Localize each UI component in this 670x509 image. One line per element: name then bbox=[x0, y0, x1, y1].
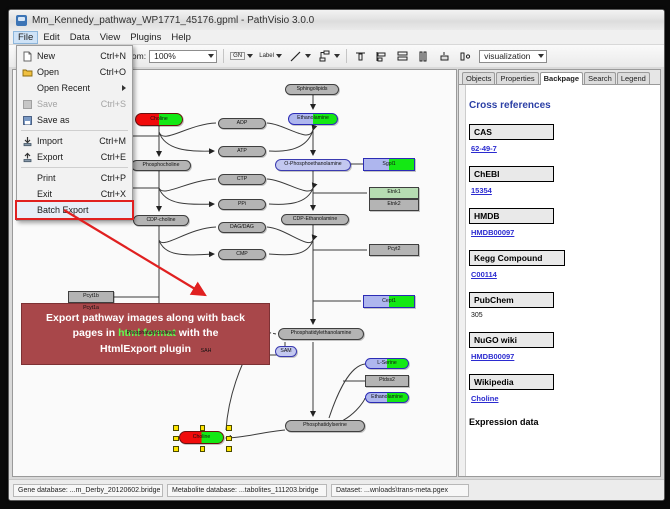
visualization-value: visualization bbox=[484, 51, 530, 61]
file-menu-popup[interactable]: New Ctrl+N Open Ctrl+O Open Recent Save … bbox=[16, 45, 133, 221]
file-menu-label-new: New bbox=[37, 51, 100, 61]
metabolite-node[interactable]: O-Phosphoethanolamine bbox=[275, 159, 351, 171]
selection-handle[interactable] bbox=[226, 446, 232, 452]
file-menu-accel-new: Ctrl+N bbox=[100, 51, 132, 61]
side-panel: Objects Properties Backpage Search Legen… bbox=[458, 69, 661, 477]
xref-header-hmdb: HMDB bbox=[469, 208, 554, 224]
line-dropdown-icon[interactable] bbox=[305, 54, 311, 58]
metabolite-label: Phosphatidylserine bbox=[302, 423, 348, 428]
xref-value-pubchem: 305 bbox=[469, 312, 656, 319]
xref-header-cas: CAS bbox=[469, 124, 554, 140]
metabolite-label: SAM bbox=[279, 349, 292, 354]
metabolite-node[interactable]: Phosphatidylethanolamine bbox=[278, 328, 364, 340]
selection-handle[interactable] bbox=[173, 446, 179, 452]
metabolite-node[interactable]: Choline bbox=[135, 113, 183, 126]
tab-properties[interactable]: Properties bbox=[496, 72, 538, 84]
metabolite-node[interactable]: Sphingolipids bbox=[285, 84, 339, 95]
metabolite-node[interactable]: Phosphocholine bbox=[131, 160, 191, 171]
datanode-icon: GN bbox=[230, 52, 245, 60]
interaction-dropdown-icon[interactable] bbox=[334, 54, 340, 58]
gene-label: Sgpl1 bbox=[381, 162, 396, 167]
file-menu-label-print: Print bbox=[37, 173, 101, 183]
status-bar: Gene database: ...m_Derby_20120602.bridg… bbox=[9, 479, 664, 500]
file-menu-accel-exit: Ctrl+X bbox=[101, 189, 132, 199]
gene-label: Pcyt2 bbox=[387, 247, 402, 252]
callout-line-3: HtmlExport plugin bbox=[46, 342, 245, 357]
menu-plugins[interactable]: Plugins bbox=[125, 31, 166, 44]
callout-line-1: Export pathway images along with back bbox=[46, 311, 245, 326]
label-tool-button[interactable]: Label bbox=[259, 49, 274, 64]
pathvisio-icon bbox=[16, 15, 27, 26]
callout-line-2-pre: pages in bbox=[73, 327, 119, 339]
file-menu-accel-save: Ctrl+S bbox=[101, 99, 132, 109]
menu-edit[interactable]: Edit bbox=[38, 31, 64, 44]
submenu-arrow-icon bbox=[122, 85, 126, 91]
file-menu-item-import[interactable]: Import Ctrl+M bbox=[17, 133, 132, 149]
metabolite-label: Sphingolipids bbox=[296, 87, 329, 92]
tab-objects[interactable]: Objects bbox=[462, 72, 495, 84]
align-left-button[interactable] bbox=[374, 49, 389, 64]
gene-node[interactable]: Cept1 bbox=[363, 295, 415, 308]
status-gene-database: Gene database: ...m_Derby_20120602.bridg… bbox=[13, 484, 163, 497]
metabolite-label: O-Phosphoethanolamine bbox=[283, 162, 342, 167]
file-menu-label-import: Import bbox=[37, 136, 99, 146]
xref-header-wikipedia: Wikipedia bbox=[469, 374, 554, 390]
metabolite-label: Phosphatidylcholines bbox=[126, 331, 177, 336]
toolbar-separator-2 bbox=[346, 49, 347, 63]
metabolite-label: ATP bbox=[236, 149, 248, 154]
line-tool-button[interactable] bbox=[288, 49, 303, 64]
gene-label: Pcyt1a bbox=[82, 306, 100, 311]
metabolite-label: Choline bbox=[149, 117, 169, 122]
menu-data[interactable]: Data bbox=[65, 31, 95, 44]
file-menu-item-open[interactable]: Open Ctrl+O bbox=[17, 64, 132, 80]
metabolite-node[interactable]: CMP bbox=[218, 249, 266, 260]
zoom-value: 100% bbox=[154, 51, 176, 61]
xref-value-kegg[interactable]: C00114 bbox=[469, 270, 656, 279]
metabolite-label: CMP bbox=[235, 252, 249, 257]
gene-label: Etnk2 bbox=[386, 202, 401, 207]
metabolite-node[interactable]: Ethanolamine bbox=[288, 113, 338, 125]
new-document-icon bbox=[17, 51, 37, 62]
file-menu-accel-import: Ctrl+M bbox=[99, 136, 132, 146]
selection-handle[interactable] bbox=[200, 425, 206, 431]
align-left-icon bbox=[375, 50, 388, 63]
chevron-down-icon-2 bbox=[538, 54, 544, 58]
selection-handle[interactable] bbox=[173, 436, 179, 442]
selection-handle[interactable] bbox=[226, 425, 232, 431]
metabolite-node[interactable]: Phosphatidylserine bbox=[285, 420, 365, 432]
backpage-content: Cross references CAS 62-49-7 ChEBI 15354… bbox=[459, 85, 660, 476]
file-menu-label-batch-export: Batch Export bbox=[37, 205, 132, 215]
gene-node[interactable]: Ptdss2 bbox=[365, 375, 409, 387]
expression-data-heading: Expression data bbox=[469, 417, 656, 427]
save-as-icon bbox=[17, 115, 37, 126]
xref-value-wikipedia[interactable]: Choline bbox=[469, 394, 656, 403]
metabolite-node[interactable]: L-Serine bbox=[365, 358, 409, 369]
side-panel-tabs: Objects Properties Backpage Search Legen… bbox=[459, 70, 660, 85]
metabolite-node[interactable]: CTP bbox=[218, 174, 266, 185]
gene-node[interactable]: Sgpl1 bbox=[363, 158, 415, 171]
metabolite-label: ADP bbox=[236, 121, 249, 126]
file-menu-item-new[interactable]: New Ctrl+N bbox=[17, 48, 132, 64]
file-menu-item-print[interactable]: Print Ctrl+P bbox=[17, 170, 132, 186]
metabolite-label: Phosphatidylethanolamine bbox=[290, 331, 353, 336]
gene-label: Pcyt1b bbox=[82, 294, 100, 299]
menu-help[interactable]: Help bbox=[166, 31, 196, 44]
file-menu-label-exit: Exit bbox=[37, 189, 101, 199]
tab-legend[interactable]: Legend bbox=[617, 72, 650, 84]
metabolite-node[interactable]: ADP bbox=[218, 118, 266, 129]
file-menu-label-export: Export bbox=[37, 152, 101, 162]
visualization-combobox[interactable]: visualization bbox=[479, 50, 547, 63]
datanode-tool-button[interactable]: GN bbox=[230, 49, 245, 64]
gene-node[interactable]: Pcyt2 bbox=[369, 244, 419, 256]
open-folder-icon bbox=[17, 67, 37, 78]
metabolite-label: Phosphocholine bbox=[142, 163, 181, 168]
pathvisio-window: Mm_Kennedy_pathway_WP1771_45176.gpml - P… bbox=[8, 9, 665, 501]
gene-node[interactable]: Pcyt1b bbox=[68, 291, 114, 303]
cross-references-heading: Cross references bbox=[469, 100, 656, 111]
file-menu-label-save-as: Save as bbox=[37, 115, 126, 125]
xref-value-hmdb[interactable]: HMDB00097 bbox=[469, 228, 656, 237]
order-back-icon bbox=[459, 50, 472, 63]
gene-node[interactable]: Etnk2 bbox=[369, 199, 419, 211]
file-menu-label-open: Open bbox=[37, 67, 100, 77]
metabolite-node[interactable]: SAM bbox=[275, 346, 297, 357]
menu-view[interactable]: View bbox=[95, 31, 125, 44]
file-menu-accel-open: Ctrl+O bbox=[100, 67, 132, 77]
file-menu-item-export[interactable]: Export Ctrl+E bbox=[17, 149, 132, 165]
status-dataset: Dataset: ...wnloads\trans-meta.pgex bbox=[331, 484, 469, 497]
order-back-button[interactable] bbox=[458, 49, 473, 64]
order-front-icon bbox=[438, 50, 451, 63]
metabolite-node[interactable]: DAG/DAG bbox=[218, 222, 266, 233]
interaction-icon bbox=[318, 50, 331, 63]
file-menu-separator-2 bbox=[21, 167, 128, 168]
align-top-icon bbox=[354, 50, 367, 63]
file-menu-item-batch-export[interactable]: Batch Export bbox=[17, 202, 132, 218]
metabolite-label: Choline bbox=[192, 435, 212, 440]
metabolite-node[interactable]: ATP bbox=[218, 146, 266, 157]
file-menu-accel-export: Ctrl+E bbox=[101, 152, 132, 162]
file-menu-item-save-as[interactable]: Save as bbox=[17, 112, 132, 128]
callout-line-2-post: with the bbox=[176, 327, 219, 339]
common-width-icon bbox=[417, 50, 430, 63]
xref-header-kegg: Kegg Compound bbox=[469, 250, 565, 266]
title-bar: Mm_Kennedy_pathway_WP1771_45176.gpml - P… bbox=[9, 10, 664, 31]
file-menu-accel-print: Ctrl+P bbox=[101, 173, 132, 183]
metabolite-label: Ethanolamine bbox=[370, 395, 404, 400]
file-menu-item-exit[interactable]: Exit Ctrl+X bbox=[17, 186, 132, 202]
status-metabolite-database: Metabolite database: ...tabolites_111203… bbox=[167, 484, 327, 497]
label-icon: Label bbox=[257, 53, 276, 59]
file-menu-label-open-recent: Open Recent bbox=[37, 83, 122, 93]
metabolite-label: DAG/DAG bbox=[229, 225, 255, 230]
import-icon bbox=[17, 136, 37, 147]
window-title: Mm_Kennedy_pathway_WP1771_45176.gpml - P… bbox=[32, 15, 314, 26]
stack-icon bbox=[396, 50, 409, 63]
order-front-button[interactable] bbox=[437, 49, 452, 64]
metabolite-label: CDP-choline bbox=[145, 218, 176, 223]
tab-search[interactable]: Search bbox=[584, 72, 616, 84]
selection-handle[interactable] bbox=[173, 425, 179, 431]
gene-label: Ptdss2 bbox=[378, 378, 396, 383]
metabolite-label: CTP bbox=[236, 177, 248, 182]
gene-node[interactable]: Etnk1 bbox=[369, 187, 419, 199]
selection-handle[interactable] bbox=[200, 446, 206, 452]
selection-handle[interactable] bbox=[226, 436, 232, 442]
xref-header-chebi: ChEBI bbox=[469, 166, 554, 182]
metabolite-node[interactable]: CDP-Ethanolamine bbox=[281, 214, 349, 225]
xref-header-pubchem: PubChem bbox=[469, 292, 554, 308]
label-dropdown-icon[interactable] bbox=[276, 54, 282, 58]
zoom-combobox[interactable]: 100% bbox=[149, 50, 217, 63]
metabolite-label: L-Serine bbox=[376, 361, 398, 366]
metabolite-label: CDP-Ethanolamine bbox=[292, 217, 338, 222]
metabolite-node[interactable]: CDP-choline bbox=[133, 215, 189, 226]
align-top-button[interactable] bbox=[353, 49, 368, 64]
xref-value-chebi[interactable]: 15354 bbox=[469, 186, 656, 195]
interaction-tool-button[interactable] bbox=[317, 49, 332, 64]
file-menu-item-save: Save Ctrl+S bbox=[17, 96, 132, 112]
export-icon bbox=[17, 152, 37, 163]
stack-button[interactable] bbox=[395, 49, 410, 64]
backpage-body: Cross references CAS 62-49-7 ChEBI 15354… bbox=[469, 85, 656, 476]
gene-label: Etnk1 bbox=[386, 190, 401, 195]
metabolite-label: PPi bbox=[237, 202, 247, 207]
metabolite-node[interactable]: Ethanolamine bbox=[365, 392, 409, 403]
metabolite-node[interactable]: PPi bbox=[218, 199, 266, 210]
metabolite-label: Ethanolamine bbox=[296, 116, 330, 121]
menu-file[interactable]: File bbox=[13, 31, 38, 44]
xref-value-nugo[interactable]: HMDB00097 bbox=[469, 352, 656, 361]
file-menu-label-save: Save bbox=[37, 99, 101, 109]
datanode-dropdown-icon[interactable] bbox=[247, 54, 253, 58]
line-icon bbox=[289, 50, 302, 63]
file-menu-separator-1 bbox=[21, 130, 128, 131]
menu-bar: File Edit Data View Plugins Help bbox=[9, 30, 664, 45]
chevron-down-icon bbox=[208, 54, 214, 58]
screen-background: Mm_Kennedy_pathway_WP1771_45176.gpml - P… bbox=[0, 0, 670, 509]
tab-backpage[interactable]: Backpage bbox=[540, 72, 583, 85]
xref-value-cas[interactable]: 62-49-7 bbox=[469, 144, 656, 153]
backpage-scrollbar[interactable] bbox=[459, 85, 466, 476]
common-width-button[interactable] bbox=[416, 49, 431, 64]
save-disk-icon bbox=[17, 99, 37, 110]
file-menu-item-open-recent[interactable]: Open Recent bbox=[17, 80, 132, 96]
metabolite-label: SAH bbox=[200, 349, 213, 354]
toolbar-separator bbox=[223, 49, 224, 63]
gene-label: Cept1 bbox=[381, 299, 397, 304]
xref-header-nugo: NuGO wiki bbox=[469, 332, 554, 348]
